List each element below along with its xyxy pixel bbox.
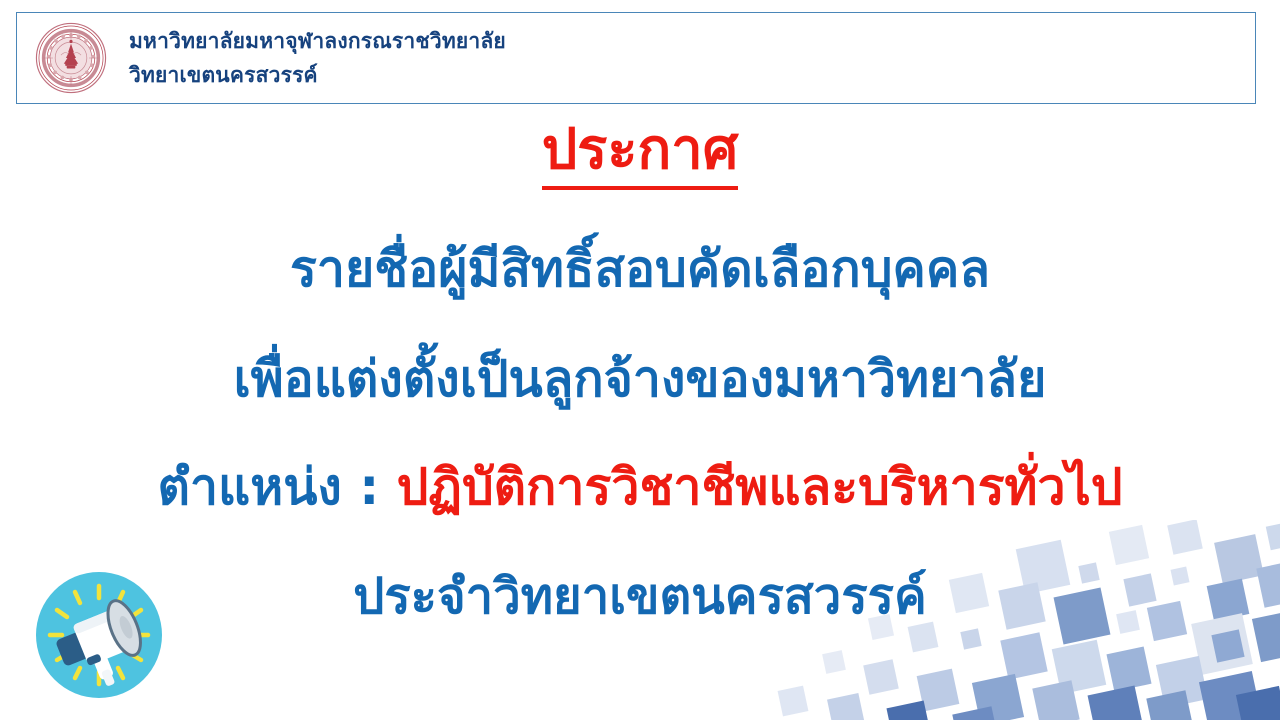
university-name-block: มหาวิทยาลัยมหาจุฬาลงกรณราชวิทยาลัย วิทยา… — [129, 29, 506, 87]
position-label: ตำแหน่ง : — [158, 458, 397, 516]
announcement-campus-line: ประจำวิทยาเขตนครสวรรค์ — [0, 572, 1280, 621]
position-value: ปฏิบัติการวิชาชีพและบริหารทั่วไป — [397, 458, 1123, 516]
announcement-content: ประกาศ รายชื่อผู้มีสิทธิ์สอบคัดเลือกบุคค… — [0, 104, 1280, 720]
university-seal-icon — [35, 22, 107, 94]
announcement-title: ประกาศ — [0, 122, 1280, 178]
megaphone-announcement-icon — [28, 564, 170, 706]
university-header-banner: มหาวิทยาลัยมหาจุฬาลงกรณราชวิทยาลัย วิทยา… — [16, 12, 1256, 104]
announcement-subtitle-line-1: รายชื่อผู้มีสิทธิ์สอบคัดเลือกบุคคล — [0, 244, 1280, 294]
announcement-slide: มหาวิทยาลัยมหาจุฬาลงกรณราชวิทยาลัย วิทยา… — [0, 0, 1280, 720]
announcement-subtitle-line-2: เพื่อแต่งตั้งเป็นลูกจ้างของมหาวิทยาลัย — [0, 354, 1280, 404]
announcement-title-text: ประกาศ — [542, 117, 739, 190]
announcement-position-line: ตำแหน่ง : ปฏิบัติการวิชาชีพและบริหารทั่ว… — [0, 462, 1280, 512]
university-campus-line-2: วิทยาเขตนครสวรรค์ — [129, 63, 506, 87]
university-name-line-1: มหาวิทยาลัยมหาจุฬาลงกรณราชวิทยาลัย — [129, 29, 506, 53]
